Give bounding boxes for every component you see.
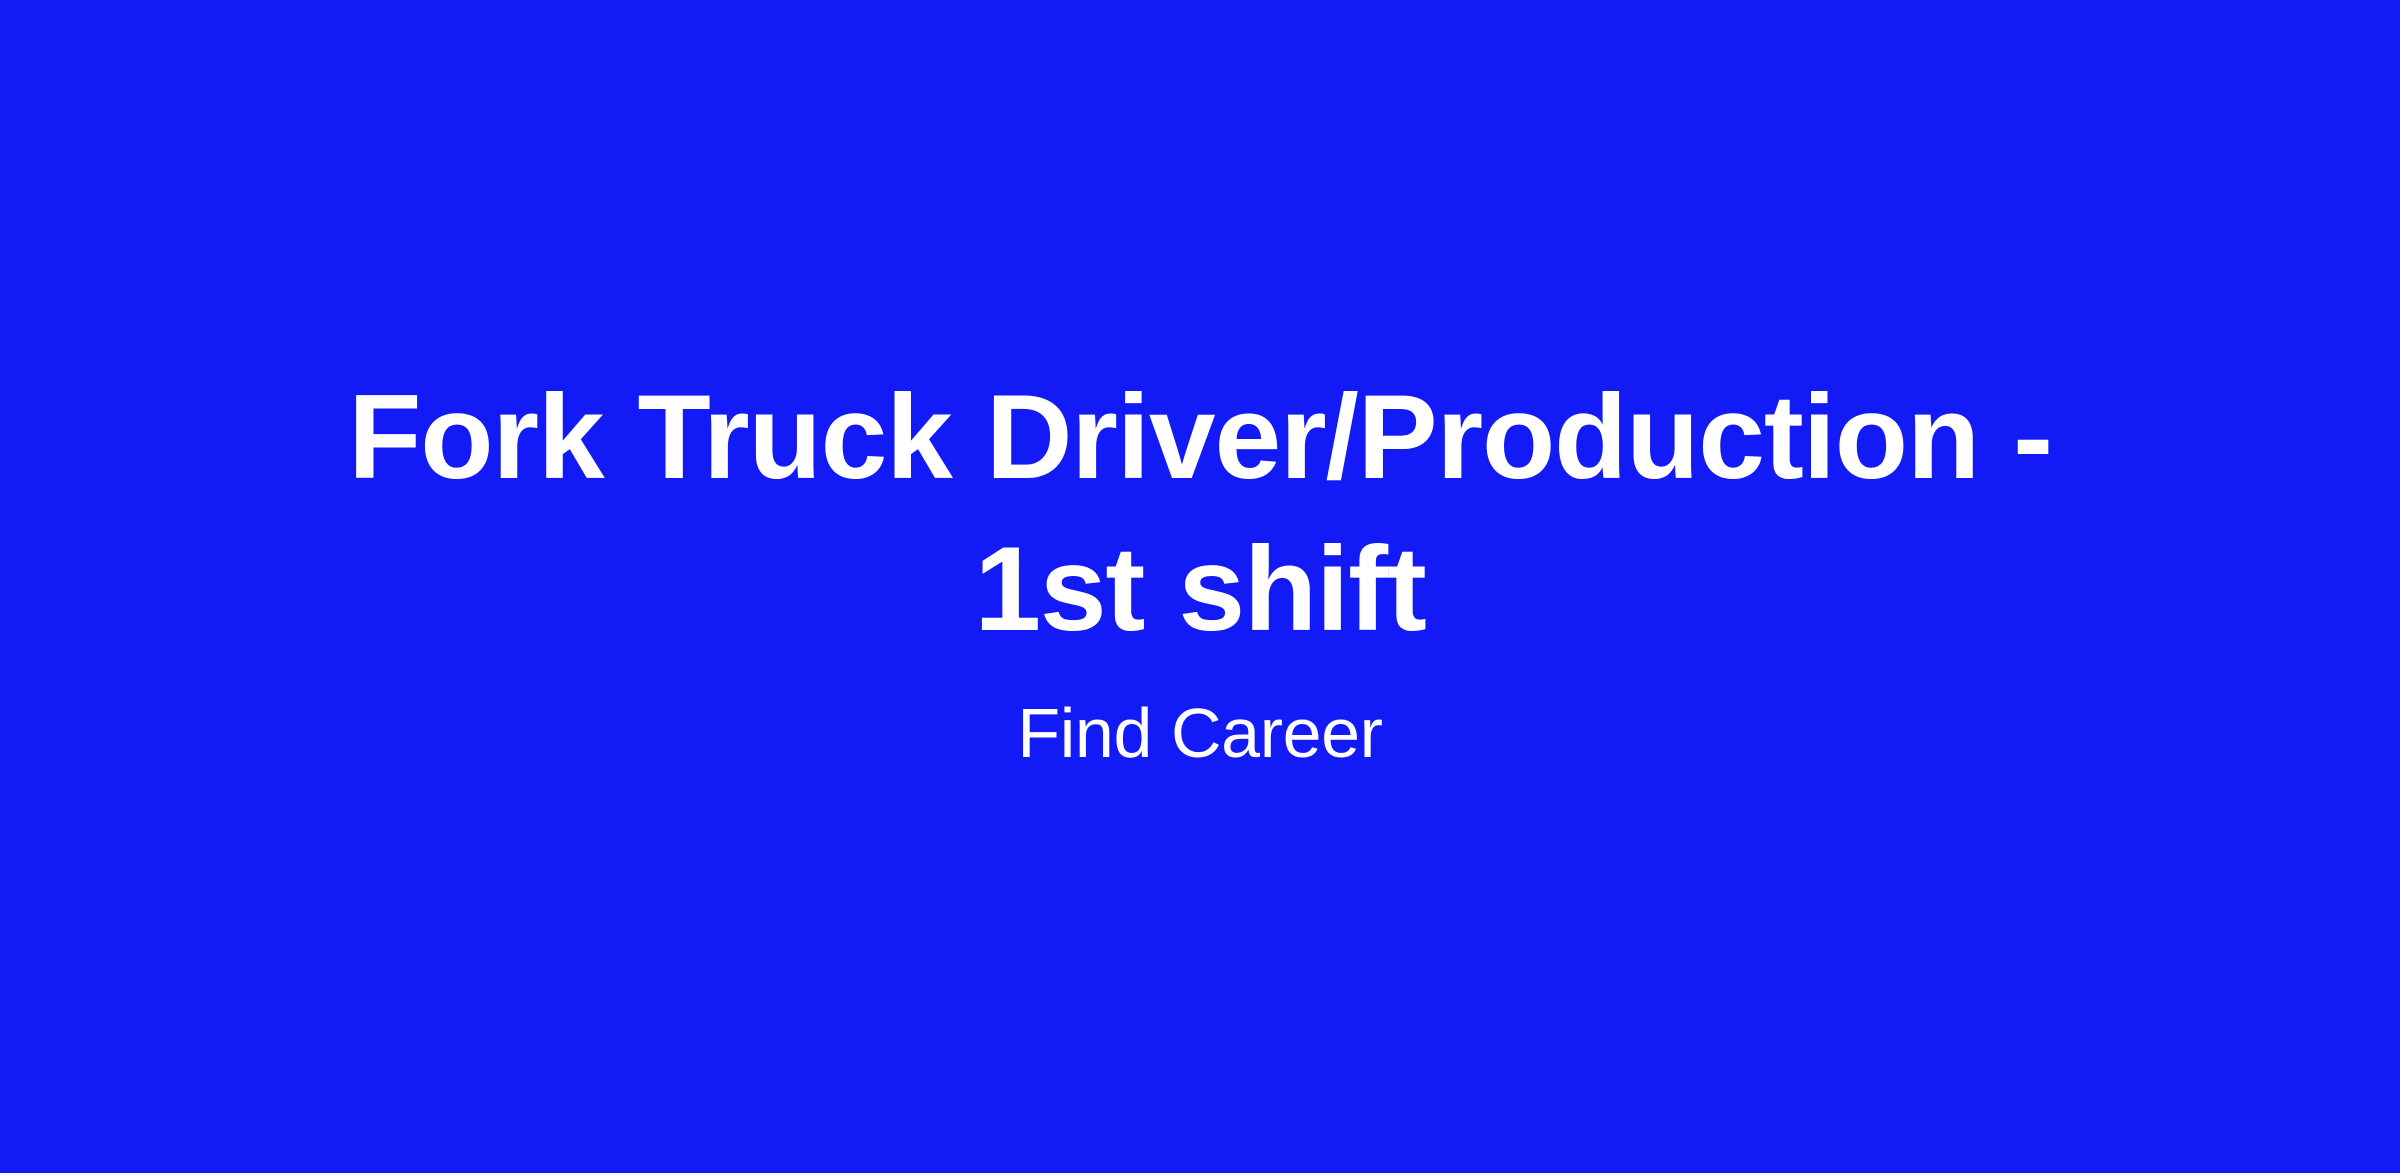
hero-text-block: Fork Truck Driver/Production - 1st shift… <box>320 361 2080 775</box>
page-title: Fork Truck Driver/Production - 1st shift <box>320 361 2080 665</box>
hero-banner: Fork Truck Driver/Production - 1st shift… <box>0 0 2400 1173</box>
page-subtitle: Find Career <box>320 691 2080 775</box>
